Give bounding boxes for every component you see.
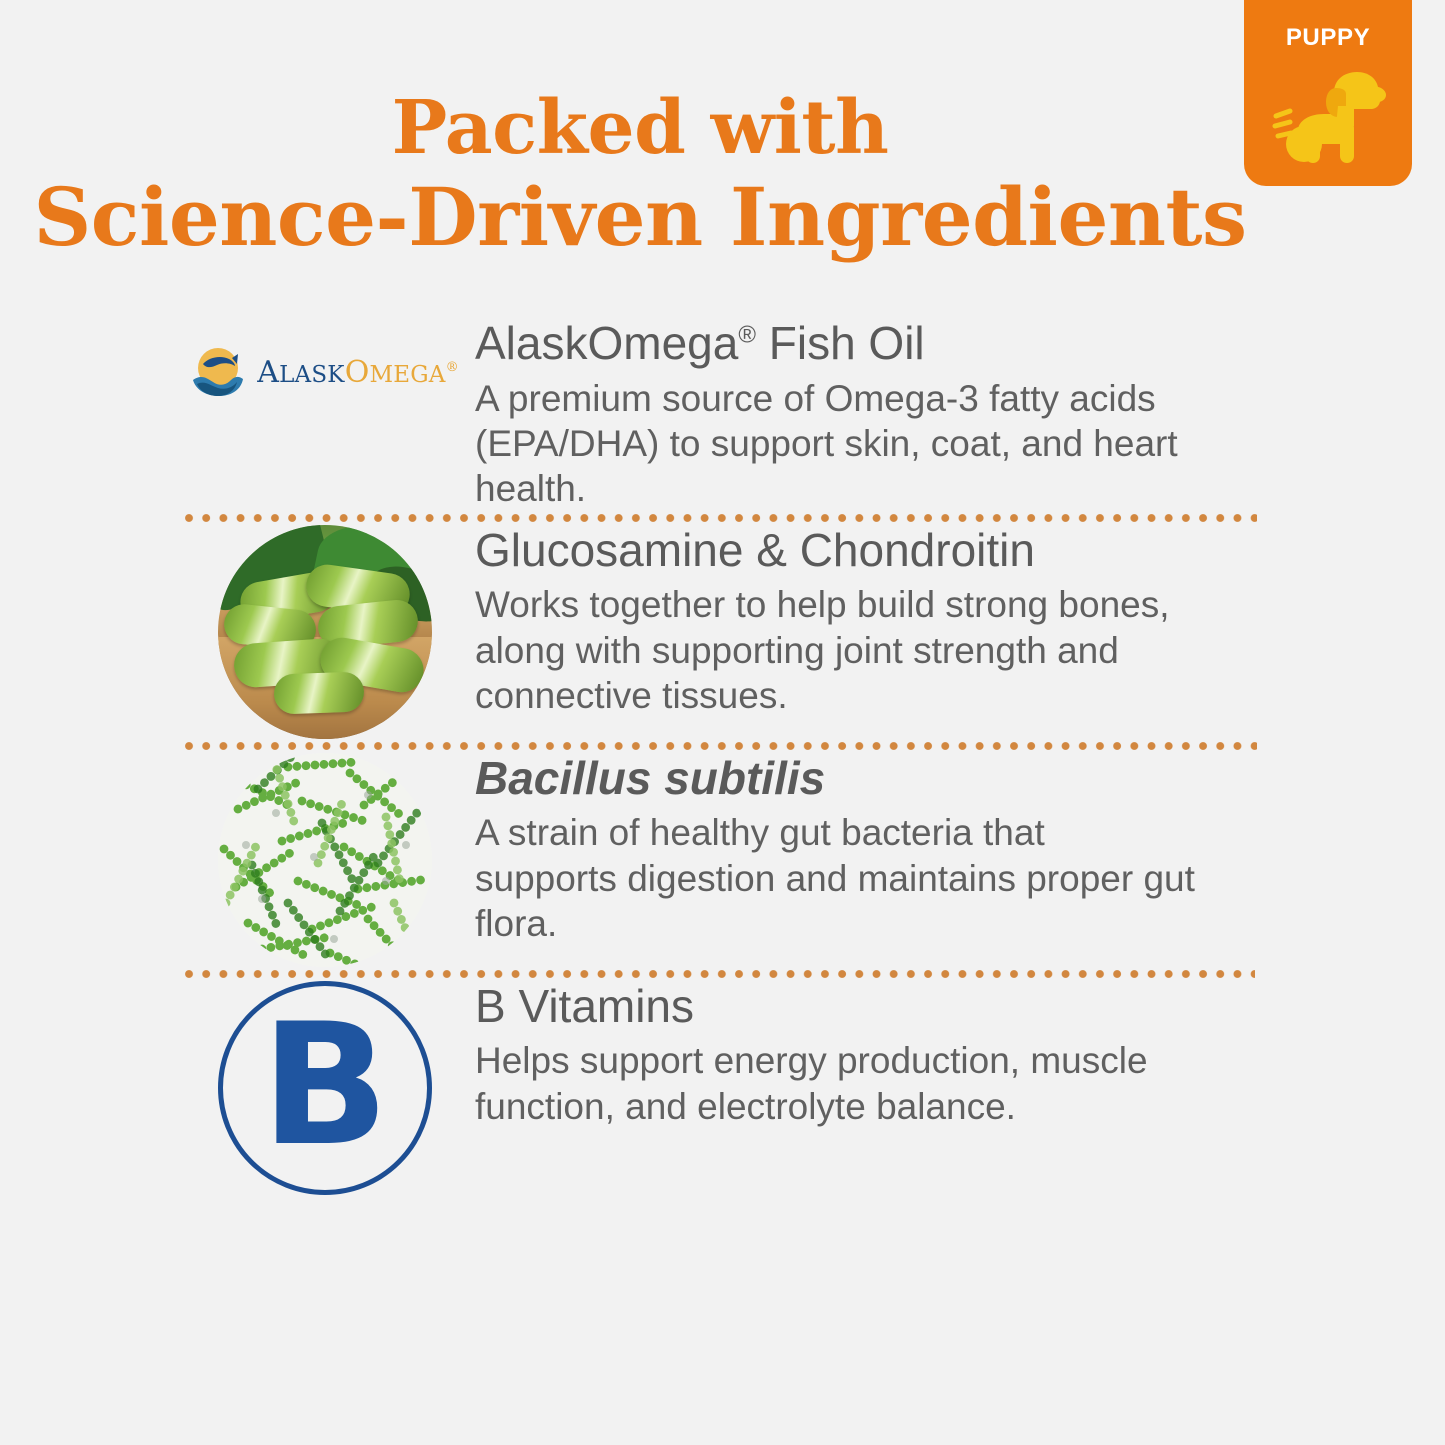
- ingredient-item-glucosamine-chondroitin: Glucosamine & Chondroitin Works together…: [0, 525, 1445, 739]
- ingredient-item-b-vitamins: B B Vitamins Helps support energy produc…: [0, 981, 1445, 1195]
- ingredient-name-b-vitamins: B Vitamins: [475, 981, 1195, 1033]
- ingredient-name-glucosamine: Glucosamine & Chondroitin: [475, 525, 1195, 577]
- puppy-dog-icon: [1268, 64, 1388, 168]
- divider-2: [185, 739, 1257, 753]
- ingredient-icon-bacillus: [175, 753, 475, 967]
- ingredients-list: ALASKOMEGA® AlaskOmega® Fish Oil A premi…: [0, 318, 1445, 1195]
- ingredient-text-b-vitamins: B Vitamins Helps support energy producti…: [475, 981, 1445, 1129]
- ingredient-text-bacillus: Bacillus subtilis A strain of healthy gu…: [475, 753, 1445, 946]
- ingredient-name-fish-oil: AlaskOmega® Fish Oil: [475, 318, 1195, 370]
- logo-registered-mark: ®: [446, 360, 459, 375]
- divider-3: [185, 967, 1255, 981]
- ingredient-description-bacillus: A strain of healthy gut bacteria that su…: [475, 810, 1195, 945]
- title-line-2: Science-Driven Ingredients: [0, 171, 1280, 263]
- ingredient-icon-b-vitamins: B: [175, 981, 475, 1195]
- ingredient-item-fish-oil: ALASKOMEGA® AlaskOmega® Fish Oil A premi…: [0, 318, 1445, 511]
- bacteria-microscopy-photo: [218, 753, 432, 967]
- page-title: Packed with Science-Driven Ingredients: [0, 86, 1280, 263]
- ingredient-text-fish-oil: AlaskOmega® Fish Oil A premium source of…: [475, 318, 1445, 511]
- b-vitamin-circle-icon: B: [218, 981, 432, 1195]
- bacteria-chains-illustration: [218, 753, 432, 967]
- ingredient-name-bacillus: Bacillus subtilis: [475, 753, 1195, 805]
- puppy-badge-label: PUPPY: [1286, 26, 1370, 50]
- ingredient-name-prefix: AlaskOmega: [475, 317, 738, 369]
- alaskomega-logo: ALASKOMEGA®: [191, 346, 459, 398]
- ingredient-icon-glucosamine: [175, 525, 475, 739]
- logo-text-omega: OMEGA: [345, 355, 446, 390]
- alaskomega-wordmark: ALASKOMEGA®: [257, 355, 459, 390]
- ingredient-icon-fish-oil: ALASKOMEGA®: [175, 346, 475, 398]
- ingredient-text-glucosamine: Glucosamine & Chondroitin Works together…: [475, 525, 1445, 718]
- ingredient-item-bacillus-subtilis: Bacillus subtilis A strain of healthy gu…: [0, 753, 1445, 967]
- ingredient-description-glucosamine: Works together to help build strong bone…: [475, 582, 1195, 717]
- capsule-shape: [273, 671, 364, 714]
- ingredient-description-b-vitamins: Helps support energy production, muscle …: [475, 1038, 1195, 1128]
- ingredient-name-suffix: Fish Oil: [756, 317, 925, 369]
- divider-1: [185, 511, 1257, 525]
- green-capsules-photo: [218, 525, 432, 739]
- ingredient-description-fish-oil: A premium source of Omega-3 fatty acids …: [475, 376, 1195, 511]
- fish-wave-emblem-icon: [191, 346, 249, 398]
- logo-text-alask: ALASK: [257, 355, 345, 390]
- ingredient-name-registered-mark: ®: [738, 322, 756, 349]
- title-line-1: Packed with: [0, 86, 1280, 171]
- ingredients-infographic: { "badge": { "label": "PUPPY", "icon": "…: [0, 0, 1445, 1445]
- b-vitamin-letter: B: [261, 1008, 389, 1163]
